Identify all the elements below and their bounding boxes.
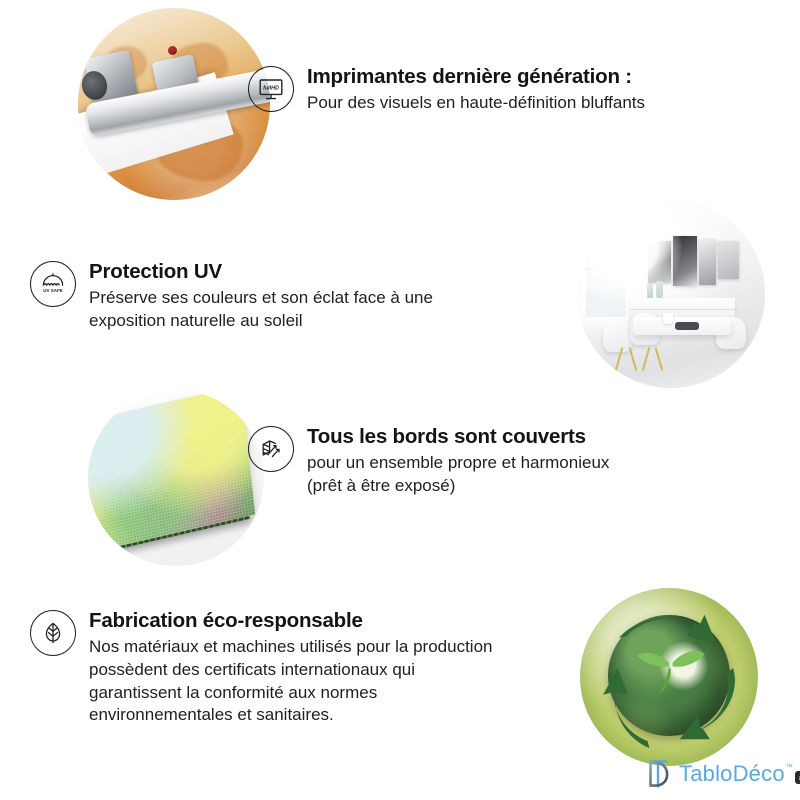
feature-description-line: Pour des visuels en haute-définition blu…: [307, 92, 645, 115]
feature-description-line: possèdent des certificats internationaux…: [89, 659, 492, 682]
feature-title: Fabrication éco-responsable: [89, 608, 492, 633]
feature-description: pour un ensemble propre et harmonieux (p…: [307, 452, 609, 498]
brand-logo[interactable]: TabloDéco ™ fr: [637, 757, 800, 791]
feature-description: Nos matériaux et machines utilisés pour …: [89, 636, 492, 727]
feature-title: Tous les bords sont couverts: [307, 424, 609, 449]
feature-uv-protection: UV SAFE Protection UV Préserve ses coule…: [30, 259, 433, 333]
feature-covered-edges: Tous les bords sont couverts pour un ens…: [248, 424, 609, 498]
feature-description-line: environnementales et sanitaires.: [89, 704, 492, 727]
uv-safe-umbrella-icon: UV SAFE: [30, 261, 76, 307]
tablodeco-d-monogram-icon: [637, 757, 671, 791]
bright-dining-room-photo: [577, 200, 765, 388]
feature-title: Imprimantes dernière génération :: [307, 64, 645, 89]
green-globe-recycling-photo: [580, 588, 758, 766]
feature-description-line: (prêt à être exposé): [307, 475, 609, 498]
fullhd-monitor-icon: fullHD: [248, 66, 294, 112]
svg-text:fullHD: fullHD: [263, 85, 279, 91]
feature-full-hd-printers: fullHD Imprimantes dernière génération :…: [248, 64, 645, 115]
feature-description-line: exposition naturelle au soleil: [89, 310, 433, 333]
domain-badge: fr: [795, 771, 800, 784]
wrapped-canvas-edges-icon: [248, 426, 294, 472]
feature-eco-responsible-manufacturing: Fabrication éco-responsable Nos matériau…: [30, 608, 492, 727]
recycling-arrows: [580, 588, 758, 766]
canvas-corner-photo: [88, 390, 264, 566]
printer-world-map-photo: [78, 8, 270, 200]
infographic-canvas: fullHD Imprimantes dernière génération :…: [0, 0, 800, 800]
leaf-icon: [30, 610, 76, 656]
feature-description-line: garantissent la conformité aux normes: [89, 682, 492, 705]
feature-title: Protection UV: [89, 259, 433, 284]
feature-description-line: Nos matériaux et machines utilisés pour …: [89, 636, 492, 659]
feature-description-line: pour un ensemble propre et harmonieux: [307, 452, 609, 475]
brand-name: TabloDéco: [679, 763, 785, 785]
feature-description-line: Préserve ses couleurs et son éclat face …: [89, 287, 433, 310]
feature-description: Préserve ses couleurs et son éclat face …: [89, 287, 433, 333]
trademark-symbol: ™: [786, 764, 793, 771]
feature-description: Pour des visuels en haute-définition blu…: [307, 92, 645, 115]
svg-text:UV SAFE: UV SAFE: [43, 288, 63, 293]
